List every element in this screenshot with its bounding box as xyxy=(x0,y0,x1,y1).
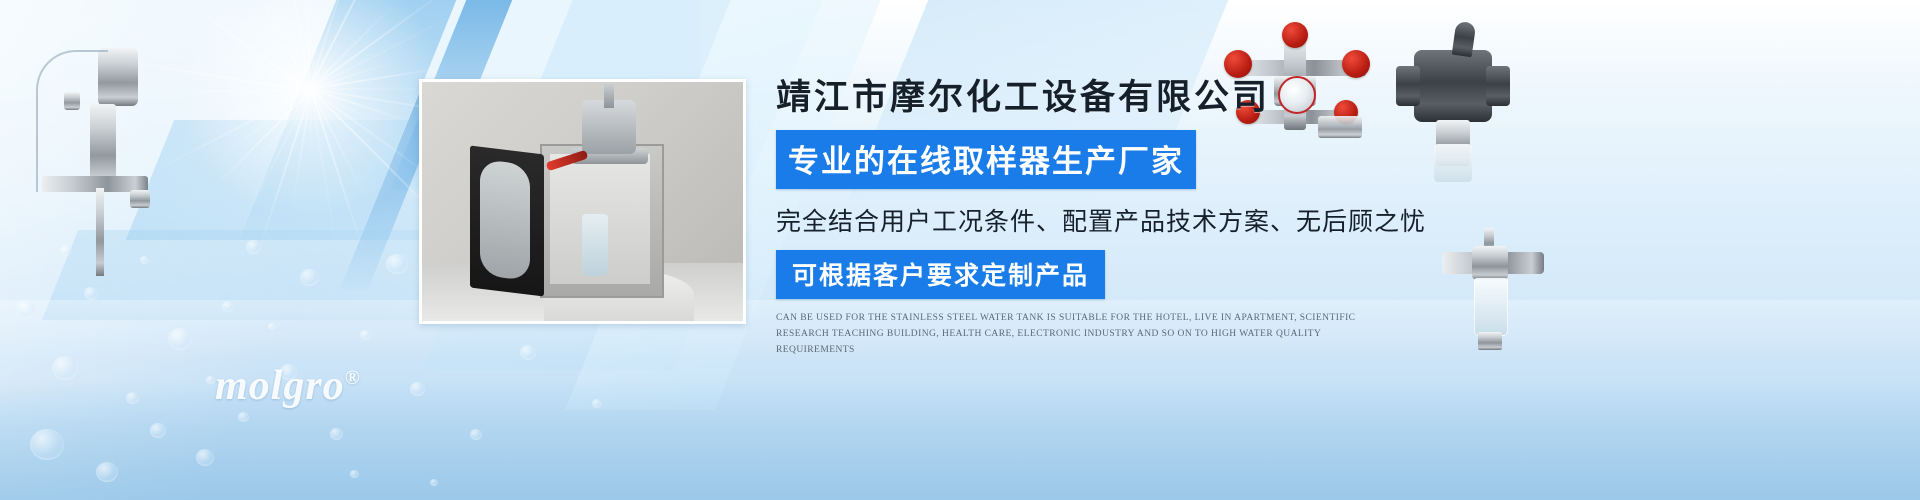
dark-valve-body xyxy=(1414,50,1492,122)
feature-line: 完全结合用户工况条件、配置产品技术方案、无后顾之忧 xyxy=(776,202,1396,238)
sampler-cross-pipe xyxy=(1442,252,1544,274)
wellhead-horizontal-pipe xyxy=(1230,60,1366,76)
english-description: CAN BE USED FOR THE STAINLESS STEEL WATE… xyxy=(776,311,1376,358)
dark-valve-sight-glass xyxy=(1434,144,1472,182)
brand-watermark: molgro® xyxy=(215,362,361,410)
banner-text-block: 靖江市摩尔化工设备有限公司 专业的在线取样器生产厂家 完全结合用户工况条件、配置… xyxy=(776,78,1396,358)
dark-valve-left-flange xyxy=(1396,66,1420,106)
brand-watermark-text: molgro xyxy=(215,363,345,409)
dark-valve-stem xyxy=(1436,120,1470,166)
photo-door-window xyxy=(480,159,530,281)
wellhead-handwheel-left xyxy=(1224,50,1252,78)
wellhead-handwheel-top xyxy=(1282,22,1308,48)
photo-valve-stem xyxy=(604,84,614,108)
product-dark-flanged-valve xyxy=(1392,22,1510,182)
sampler-body xyxy=(1472,246,1508,280)
registered-mark: ® xyxy=(345,367,361,389)
promo-banner: molgro® xyxy=(0,0,1920,500)
product-photo xyxy=(419,79,746,324)
dark-valve-lever-handle xyxy=(1452,21,1477,57)
company-title: 靖江市摩尔化工设备有限公司 xyxy=(776,78,1396,118)
photo-valve-head xyxy=(582,100,636,154)
dark-valve-right-flange xyxy=(1486,66,1510,106)
wellhead-handwheel-right xyxy=(1342,50,1370,78)
tagline-badge: 专业的在线取样器生产厂家 xyxy=(776,130,1196,189)
sampler-top-stem xyxy=(1484,228,1494,254)
customization-badge: 可根据客户要求定制产品 xyxy=(776,250,1105,299)
photo-sample-bottle xyxy=(582,214,608,276)
